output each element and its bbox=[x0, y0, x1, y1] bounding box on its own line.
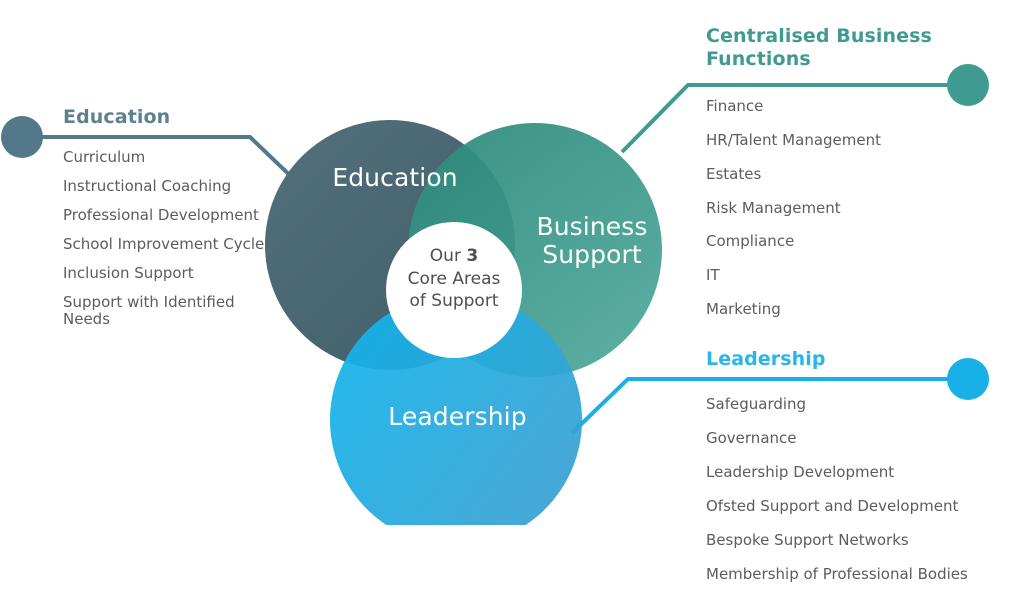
list-item: Governance bbox=[706, 430, 1018, 447]
panel-education-list: Curriculum Instructional Coaching Profes… bbox=[63, 149, 278, 328]
panel-education-heading: Education bbox=[63, 106, 278, 129]
list-item: Compliance bbox=[706, 233, 1016, 250]
center-text-line-2: Core Areas bbox=[388, 268, 520, 291]
venn-label-leadership: Leadership bbox=[360, 403, 555, 431]
list-item: Finance bbox=[706, 98, 1016, 115]
list-item: Estates bbox=[706, 166, 1016, 183]
list-item: Safeguarding bbox=[706, 396, 1018, 413]
list-item: Bespoke Support Networks bbox=[706, 532, 1018, 549]
list-item: IT bbox=[706, 267, 1016, 284]
list-item: Leadership Development bbox=[706, 464, 1018, 481]
venn-center-text: Our 3 Core Areas of Support bbox=[388, 245, 520, 313]
panel-business: Centralised Business Functions Finance H… bbox=[706, 25, 1016, 335]
venn-label-education: Education bbox=[300, 164, 490, 192]
panel-leadership: Leadership Safeguarding Governance Leade… bbox=[706, 348, 1018, 600]
center-text-line-1: Our 3 bbox=[388, 245, 520, 268]
venn-label-business: Business Support bbox=[512, 213, 672, 269]
panel-education: Education Curriculum Instructional Coach… bbox=[63, 106, 278, 340]
connector-dot-education bbox=[1, 116, 43, 158]
list-item: Professional Development bbox=[63, 207, 278, 224]
list-item: Inclusion Support bbox=[63, 265, 278, 282]
panel-leadership-heading: Leadership bbox=[706, 348, 1018, 371]
infographic-canvas: Education Business Support Leadership Ou… bbox=[0, 0, 1024, 600]
center-text-line-3: of Support bbox=[388, 290, 520, 313]
panel-leadership-list: Safeguarding Governance Leadership Devel… bbox=[706, 396, 1018, 583]
list-item: Risk Management bbox=[706, 200, 1016, 217]
list-item: HR/Talent Management bbox=[706, 132, 1016, 149]
list-item: School Improvement Cycle bbox=[63, 236, 278, 253]
list-item: Marketing bbox=[706, 301, 1016, 318]
list-item: Support with Identified Needs bbox=[63, 294, 278, 328]
list-item: Ofsted Support and Development bbox=[706, 498, 1018, 515]
list-item: Instructional Coaching bbox=[63, 178, 278, 195]
list-item: Membership of Professional Bodies bbox=[706, 566, 1018, 583]
panel-business-heading: Centralised Business Functions bbox=[706, 25, 1016, 72]
center-text-number: 3 bbox=[466, 246, 478, 266]
panel-business-list: Finance HR/Talent Management Estates Ris… bbox=[706, 98, 1016, 319]
center-text-prefix: Our bbox=[430, 246, 467, 266]
list-item: Curriculum bbox=[63, 149, 278, 166]
